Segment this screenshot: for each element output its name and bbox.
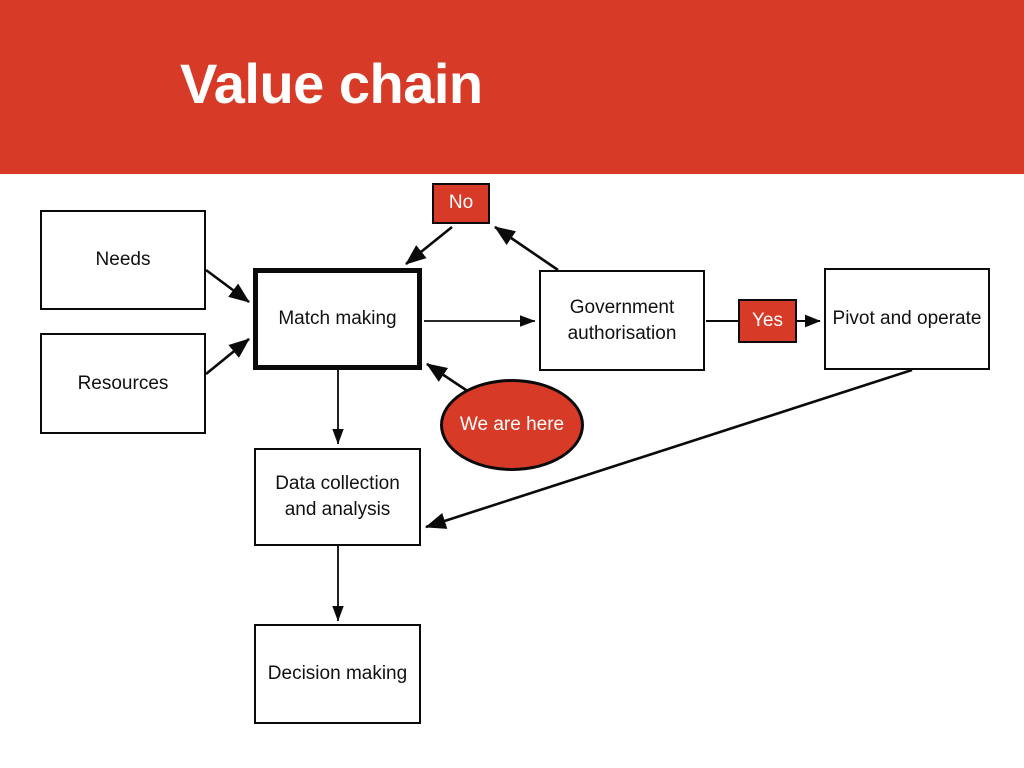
edge-no-to-match-making [406, 227, 452, 264]
node-data-collection-and-analysis-label: Data collection and analysis [256, 471, 419, 522]
header-band: Value chain [0, 0, 1024, 174]
page-title: Value chain [180, 56, 483, 112]
node-match-making-label: Match making [272, 306, 402, 332]
edge-resources-to-match-making [206, 339, 249, 374]
chip-no-label: No [449, 192, 473, 215]
callout-we-are-here-label: We are here [460, 412, 564, 438]
node-resources-label: Resources [72, 371, 175, 397]
edge-government-authorisation-to-no [495, 227, 558, 270]
chip-yes-label: Yes [752, 310, 783, 333]
callout-we-are-here[interactable]: We are here [440, 379, 584, 471]
node-pivot-and-operate-label: Pivot and operate [827, 306, 988, 332]
value-chain-diagram: Needs Resources Match making Government … [0, 174, 1024, 768]
node-government-authorisation[interactable]: Government authorisation [539, 270, 705, 371]
node-resources[interactable]: Resources [40, 333, 206, 434]
node-pivot-and-operate[interactable]: Pivot and operate [824, 268, 990, 370]
edge-needs-to-match-making [206, 270, 249, 302]
node-government-authorisation-label: Government authorisation [541, 295, 703, 346]
node-needs-label: Needs [90, 247, 157, 273]
node-decision-making-label: Decision making [262, 661, 413, 687]
node-data-collection-and-analysis[interactable]: Data collection and analysis [254, 448, 421, 546]
chip-no[interactable]: No [432, 183, 490, 224]
node-match-making[interactable]: Match making [253, 268, 422, 370]
node-needs[interactable]: Needs [40, 210, 206, 310]
node-decision-making[interactable]: Decision making [254, 624, 421, 724]
chip-yes[interactable]: Yes [738, 299, 797, 343]
